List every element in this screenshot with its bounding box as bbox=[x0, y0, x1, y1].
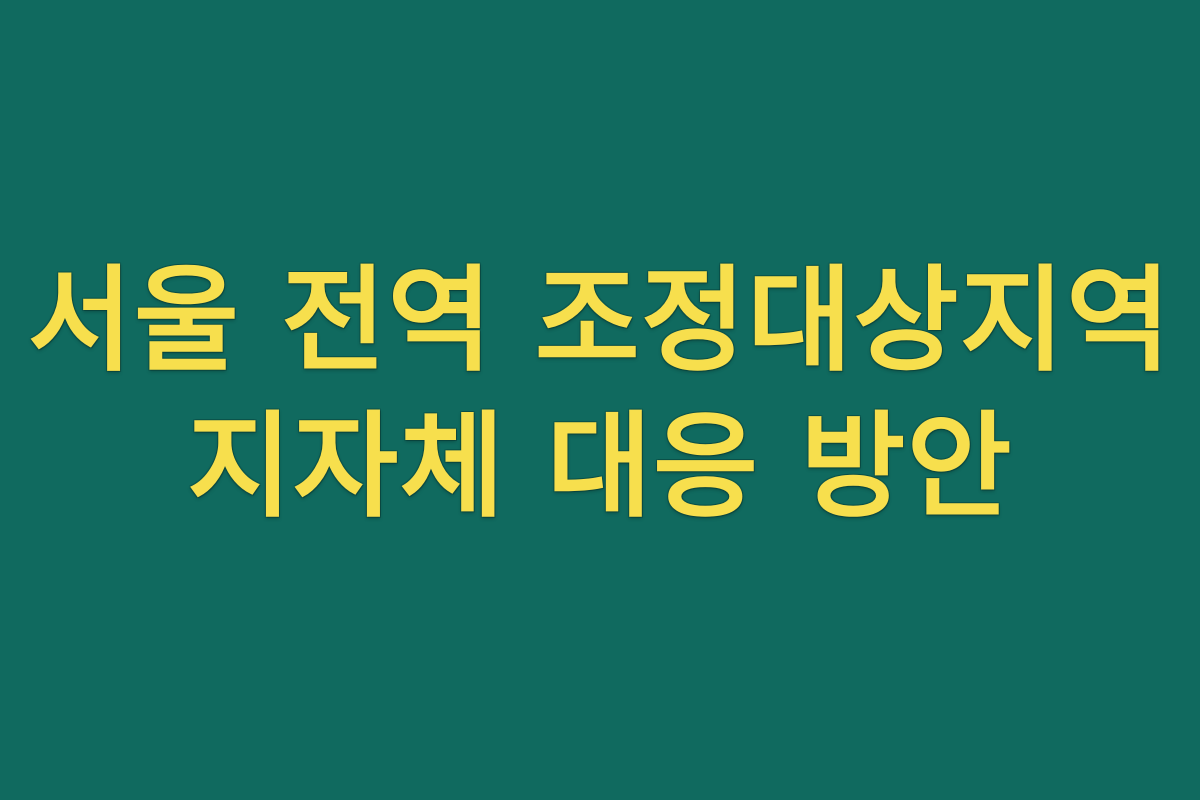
headline-line-2: 지자체 대응 방안 bbox=[0, 394, 1200, 540]
headline-line-1: 서울 전역 조정대상지역 bbox=[0, 248, 1200, 394]
banner-card: 서울 전역 조정대상지역 지자체 대응 방안 bbox=[0, 0, 1200, 800]
headline-block: 서울 전역 조정대상지역 지자체 대응 방안 bbox=[0, 248, 1200, 540]
